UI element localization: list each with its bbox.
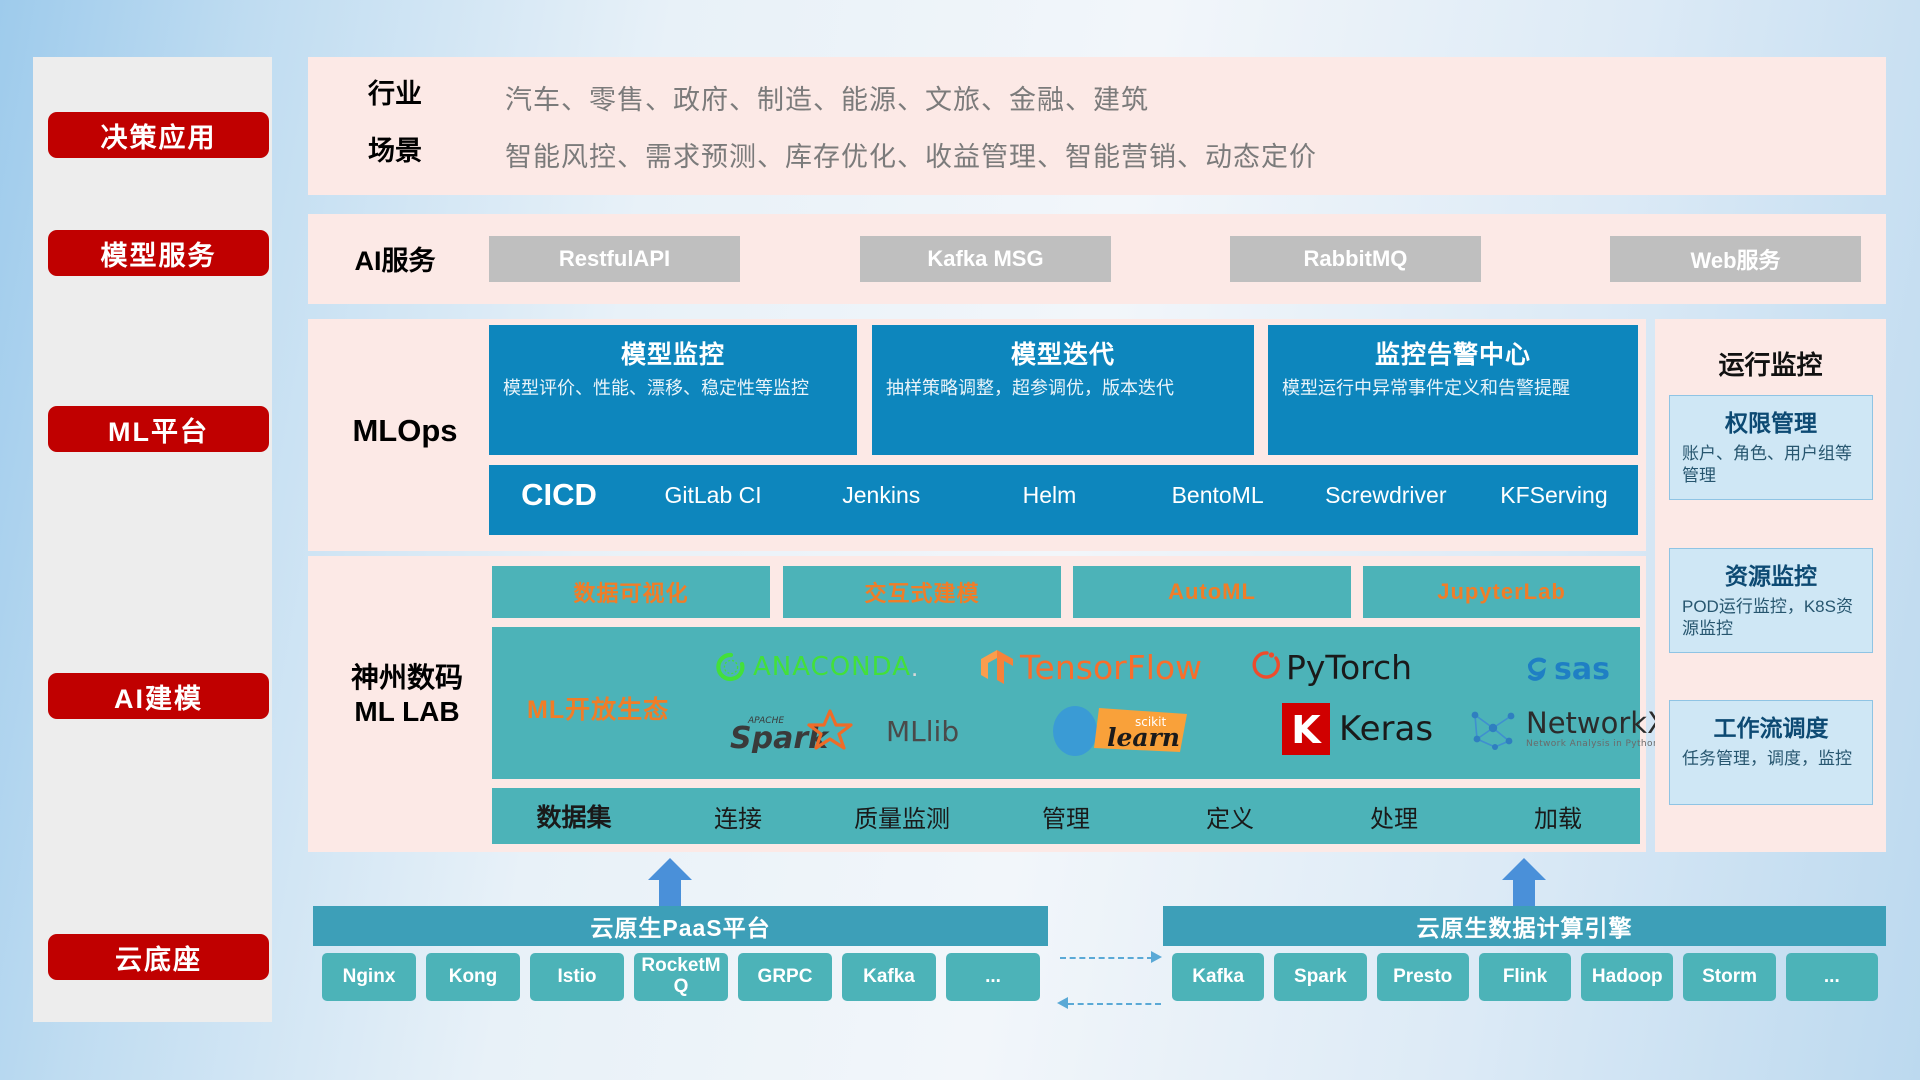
rail-item-label: ML平台 <box>108 410 209 449</box>
chip-label: Kafka MSG <box>927 246 1043 272</box>
ml-lab-label-line1: 神州数码 <box>322 661 492 695</box>
monitoring-card-resource[interactable]: 资源监控 POD运行监控，K8S资源监控 <box>1669 548 1873 653</box>
cloud-data-engine-header: 云原生数据计算引擎 <box>1163 906 1886 946</box>
card-desc: 模型运行中异常事件定义和告警提醒 <box>1282 377 1624 401</box>
rail-item-ml-platform[interactable]: ML平台 <box>48 406 269 452</box>
keras-logo: K Keras <box>1282 703 1433 755</box>
lab-tab-automl[interactable]: AutoML <box>1073 566 1351 618</box>
rail-item-ai-modeling[interactable]: AI建模 <box>48 673 269 719</box>
svg-text:learn: learn <box>1107 723 1180 752</box>
dataset-bar: 数据集 连接 质量监测 管理 定义 处理 加载 <box>492 788 1640 844</box>
arrow-up-left-head <box>648 858 692 880</box>
monitoring-card-permission[interactable]: 权限管理 账户、角色、用户组等管理 <box>1669 395 1873 500</box>
dataset-item-processing[interactable]: 处理 <box>1312 799 1476 834</box>
card-title: 权限管理 <box>1682 404 1860 438</box>
rail-item-label: 决策应用 <box>101 116 217 155</box>
networkx-icon <box>1465 705 1521 753</box>
pytorch-wordmark: PyTorch <box>1286 648 1412 687</box>
ai-service-label: AI服务 <box>330 245 460 278</box>
cloud-chip-grpc[interactable]: GRPC <box>738 953 832 1001</box>
cicd-item-helm[interactable]: Helm <box>965 465 1133 508</box>
rail-item-model-service[interactable]: 模型服务 <box>48 230 269 276</box>
card-desc: 任务管理，调度，监控 <box>1682 748 1860 770</box>
card-title: 模型迭代 <box>886 335 1240 371</box>
architecture-diagram: 决策应用 模型服务 ML平台 AI建模 云底座 行业 汽车、零售、政府、制造、能… <box>0 0 1920 1080</box>
service-chip-restfulapi[interactable]: RestfulAPI <box>489 236 740 282</box>
spark-mllib-logo: APACHE Spark MLlib <box>730 710 959 752</box>
service-chip-kafka-msg[interactable]: Kafka MSG <box>860 236 1111 282</box>
tab-label: JupyterLab <box>1437 579 1566 605</box>
engine-chip-more[interactable]: ... <box>1786 953 1878 1001</box>
cloud-data-engine-chips: Kafka Spark Presto Flink Hadoop Storm ..… <box>1172 953 1878 1001</box>
tab-label: 数据可视化 <box>573 576 688 608</box>
spark-icon: APACHE Spark <box>730 709 880 753</box>
cloud-data-engine-title: 云原生数据计算引擎 <box>1417 909 1633 943</box>
dataset-item-loading[interactable]: 加载 <box>1476 799 1640 834</box>
mlops-label: MLOps <box>330 412 480 450</box>
keras-icon: K <box>1282 703 1330 755</box>
cloud-paas-chips: Nginx Kong Istio RocketMQ GRPC Kafka ... <box>322 953 1040 1001</box>
arrow-up-right-stem <box>1513 879 1535 907</box>
cicd-bar: CICD GitLab CI Jenkins Helm BentoML Scre… <box>489 465 1638 535</box>
card-desc: 抽样策略调整，超参调优，版本迭代 <box>886 377 1240 401</box>
dataset-item-management[interactable]: 管理 <box>984 799 1148 834</box>
pytorch-logo: PyTorch <box>1252 648 1412 686</box>
rail-item-label: 云底座 <box>115 938 202 977</box>
engine-chip-presto[interactable]: Presto <box>1377 953 1469 1001</box>
networkx-wordmark: NetworkX <box>1526 709 1667 738</box>
card-title: 模型监控 <box>503 335 843 371</box>
mlops-card-model-iteration[interactable]: 模型迭代 抽样策略调整，超参调优，版本迭代 <box>872 325 1254 455</box>
cicd-title: CICD <box>489 465 629 513</box>
cloud-chip-nginx[interactable]: Nginx <box>322 953 416 1001</box>
scikit-learn-icon: scikit learn <box>1047 704 1202 756</box>
tab-label: AutoML <box>1168 579 1256 605</box>
cloud-chip-kafka[interactable]: Kafka <box>842 953 936 1001</box>
card-title: 工作流调度 <box>1682 709 1860 743</box>
cicd-item-bentoml[interactable]: BentoML <box>1134 465 1302 508</box>
runtime-monitoring-title: 运行监控 <box>1655 345 1886 382</box>
ml-ecosystem-label: ML开放生态 <box>527 690 669 726</box>
scenario-label: 场景 <box>340 135 450 168</box>
chip-label: Web服务 <box>1690 243 1780 275</box>
anaconda-icon <box>716 652 746 682</box>
card-title: 资源监控 <box>1682 557 1860 591</box>
anaconda-wordmark: ANACONDA <box>753 652 911 682</box>
engine-chip-storm[interactable]: Storm <box>1683 953 1775 1001</box>
cloud-chip-rocketmq[interactable]: RocketMQ <box>634 953 728 1001</box>
layer-rail <box>33 57 272 1022</box>
card-desc: POD运行监控，K8S资源监控 <box>1682 596 1860 641</box>
engine-chip-hadoop[interactable]: Hadoop <box>1581 953 1673 1001</box>
mllib-wordmark: MLlib <box>886 715 959 748</box>
dashed-arrow-right <box>1151 951 1162 963</box>
rail-item-cloud-base[interactable]: 云底座 <box>48 934 269 980</box>
arrow-up-right-head <box>1502 858 1546 880</box>
keras-wordmark: Keras <box>1339 709 1433 749</box>
anaconda-logo: ANACONDA . <box>716 650 918 684</box>
card-title: 监控告警中心 <box>1282 335 1624 371</box>
lab-tab-interactive-modeling[interactable]: 交互式建模 <box>783 566 1061 618</box>
cicd-item-jenkins[interactable]: Jenkins <box>797 465 965 508</box>
dashed-connector-left <box>1068 1003 1161 1005</box>
tensorflow-icon <box>980 649 1014 685</box>
card-desc: 模型评价、性能、漂移、稳定性等监控 <box>503 377 843 401</box>
scenario-value: 智能风控、需求预测、库存优化、收益管理、智能营销、动态定价 <box>505 135 1317 174</box>
dataset-item-quality-monitoring[interactable]: 质量监测 <box>820 799 984 834</box>
mlops-card-model-monitoring[interactable]: 模型监控 模型评价、性能、漂移、稳定性等监控 <box>489 325 857 455</box>
networkx-logo: NetworkX Network Analysis in Python <box>1465 705 1667 753</box>
engine-chip-spark[interactable]: Spark <box>1274 953 1366 1001</box>
cloud-paas-title: 云原生PaaS平台 <box>590 909 770 943</box>
tensorflow-wordmark: TensorFlow <box>1020 648 1202 687</box>
lab-tab-jupyterlab[interactable]: JupyterLab <box>1363 566 1640 618</box>
dataset-item-connect[interactable]: 连接 <box>656 799 820 834</box>
engine-chip-flink[interactable]: Flink <box>1479 953 1571 1001</box>
dashed-connector-right <box>1060 957 1153 959</box>
industry-value: 汽车、零售、政府、制造、能源、文旅、金融、建筑 <box>505 78 1149 117</box>
mlops-card-alert-center[interactable]: 监控告警中心 模型运行中异常事件定义和告警提醒 <box>1268 325 1638 455</box>
sas-logo: sas <box>1522 652 1610 686</box>
rail-item-decision-app[interactable]: 决策应用 <box>48 112 269 158</box>
industry-label: 行业 <box>340 78 450 111</box>
service-chip-rabbitmq[interactable]: RabbitMQ <box>1230 236 1481 282</box>
dataset-label: 数据集 <box>492 798 656 834</box>
sas-icon <box>1522 654 1552 684</box>
cicd-item-screwdriver[interactable]: Screwdriver <box>1302 465 1470 508</box>
pytorch-icon <box>1252 649 1282 685</box>
cicd-item-kfserving[interactable]: KFServing <box>1470 465 1638 508</box>
cloud-paas-header: 云原生PaaS平台 <box>313 906 1048 946</box>
card-desc: 账户、角色、用户组等管理 <box>1682 443 1860 488</box>
dataset-item-definition[interactable]: 定义 <box>1148 799 1312 834</box>
ml-lab-label-line2: ML LAB <box>322 695 492 729</box>
scikit-learn-logo: scikit learn <box>1047 705 1202 755</box>
tab-label: 交互式建模 <box>864 576 979 608</box>
arrow-up-left-stem <box>659 879 681 907</box>
chip-label: RabbitMQ <box>1304 246 1408 272</box>
cloud-chip-istio[interactable]: Istio <box>530 953 624 1001</box>
cloud-chip-more[interactable]: ... <box>946 953 1040 1001</box>
dashed-arrow-left <box>1057 997 1068 1009</box>
networkx-tagline: Network Analysis in Python <box>1526 740 1667 749</box>
rail-item-label: AI建模 <box>114 677 203 716</box>
service-chip-web-service[interactable]: Web服务 <box>1610 236 1861 282</box>
cicd-item-gitlab-ci[interactable]: GitLab CI <box>629 465 797 508</box>
sas-wordmark: sas <box>1554 652 1610 687</box>
engine-chip-kafka[interactable]: Kafka <box>1172 953 1264 1001</box>
monitoring-card-workflow[interactable]: 工作流调度 任务管理，调度，监控 <box>1669 700 1873 805</box>
tensorflow-logo: TensorFlow <box>980 648 1202 686</box>
chip-label: RestfulAPI <box>559 246 670 272</box>
cloud-chip-kong[interactable]: Kong <box>426 953 520 1001</box>
svg-text:K: K <box>1291 708 1322 752</box>
rail-item-label: 模型服务 <box>101 234 217 273</box>
lab-tab-data-visualization[interactable]: 数据可视化 <box>492 566 770 618</box>
ml-lab-label: 神州数码 ML LAB <box>322 661 492 729</box>
